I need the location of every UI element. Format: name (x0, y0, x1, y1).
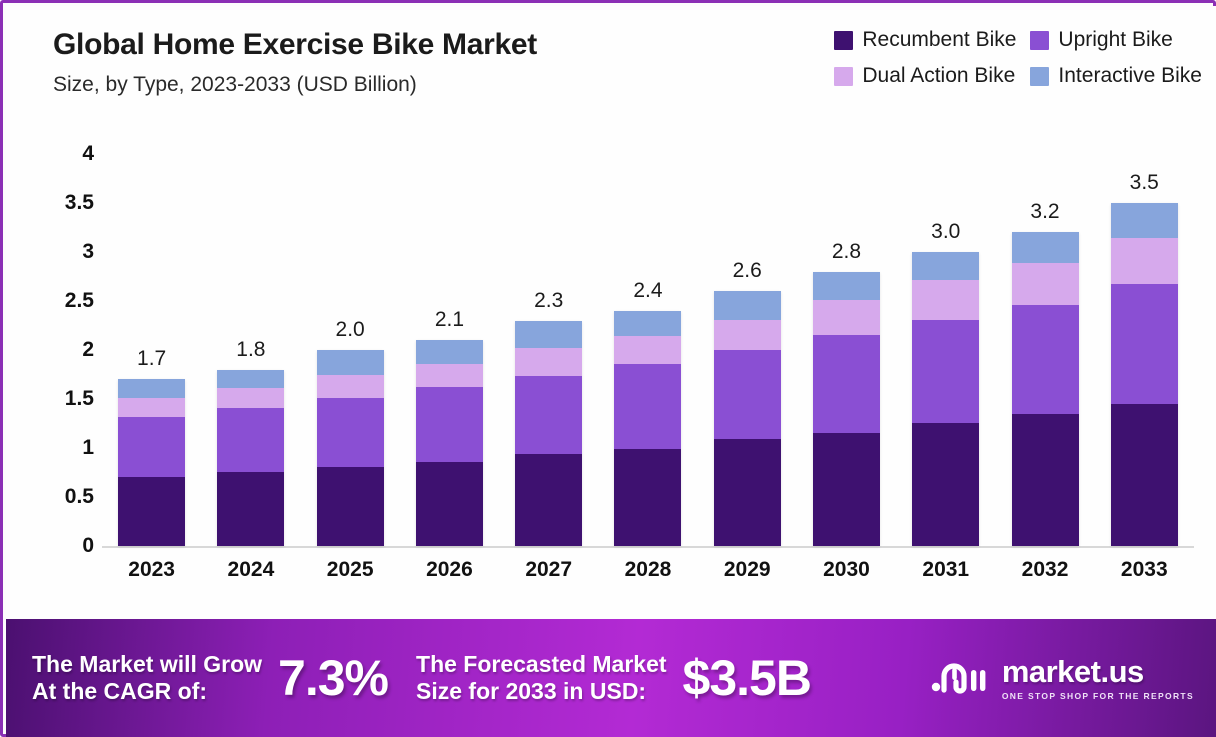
y-axis-tick-label: 2.5 (65, 289, 94, 313)
bar-stack[interactable] (217, 370, 284, 546)
bar-segment-upright-bike[interactable] (217, 408, 284, 472)
chart-legend: Recumbent BikeUpright BikeDual Action Bi… (752, 28, 1202, 88)
bar-segment-recumbent-bike[interactable] (416, 462, 483, 546)
forecast-value: $3.5B (683, 649, 811, 707)
bar-segment-upright-bike[interactable] (813, 335, 880, 433)
bar-stack[interactable] (118, 379, 185, 546)
legend-label: Recumbent Bike (862, 28, 1016, 52)
bar-segment-recumbent-bike[interactable] (515, 454, 582, 546)
legend-swatch-icon (834, 31, 853, 50)
legend-item-1[interactable]: Upright Bike (1030, 28, 1202, 52)
bar-group-2028[interactable]: 2.4 (598, 154, 697, 546)
bar-stack[interactable] (714, 291, 781, 546)
y-axis-tick-label: 2 (82, 338, 94, 362)
bar-group-2030[interactable]: 2.8 (797, 154, 896, 546)
bar-total-label: 1.7 (102, 347, 201, 371)
bar-stack[interactable] (912, 252, 979, 546)
cagr-label-line1: The Market will Grow (32, 651, 262, 677)
bar-segment-dual-action-bike[interactable] (515, 348, 582, 376)
bar-segment-interactive-bike[interactable] (614, 311, 681, 336)
bar-group-2023[interactable]: 1.7 (102, 154, 201, 546)
y-axis: 00.511.522.533.54 (42, 154, 94, 546)
legend-swatch-icon (1030, 31, 1049, 50)
bar-total-label: 2.6 (698, 259, 797, 283)
cagr-label: The Market will Grow At the CAGR of: (32, 651, 262, 704)
bar-segment-interactive-bike[interactable] (1111, 203, 1178, 238)
bar-segment-recumbent-bike[interactable] (217, 472, 284, 546)
brand-tagline: ONE STOP SHOP FOR THE REPORTS (1002, 691, 1194, 701)
brand-text: market.us ONE STOP SHOP FOR THE REPORTS (1002, 656, 1194, 701)
legend-item-0[interactable]: Recumbent Bike (834, 28, 1016, 52)
y-axis-tick-label: 3.5 (65, 191, 94, 215)
bar-total-label: 2.4 (598, 279, 697, 303)
bar-group-2033[interactable]: 3.5 (1095, 154, 1194, 546)
bar-segment-dual-action-bike[interactable] (416, 364, 483, 388)
bar-segment-dual-action-bike[interactable] (1012, 263, 1079, 305)
x-axis-tick-label: 2025 (301, 558, 400, 582)
forecast-label-line1: The Forecasted Market (416, 651, 667, 677)
page-title: Global Home Exercise Bike Market (53, 28, 537, 62)
bar-segment-interactive-bike[interactable] (1012, 232, 1079, 262)
bar-segment-dual-action-bike[interactable] (614, 336, 681, 363)
y-axis-tick-label: 3 (82, 240, 94, 264)
y-axis-tick-label: 4 (82, 142, 94, 166)
y-axis-tick-label: 0 (82, 534, 94, 558)
title-block: Global Home Exercise Bike Market Size, b… (53, 28, 537, 97)
bar-total-label: 2.0 (301, 318, 400, 342)
forecast-label-line2: Size for 2033 in USD: (416, 678, 646, 704)
legend-item-2[interactable]: Dual Action Bike (834, 64, 1016, 88)
bar-segment-recumbent-bike[interactable] (714, 439, 781, 546)
bar-segment-recumbent-bike[interactable] (614, 449, 681, 546)
bar-total-label: 1.8 (201, 338, 300, 362)
bar-segment-dual-action-bike[interactable] (317, 375, 384, 398)
bar-segment-dual-action-bike[interactable] (1111, 238, 1178, 284)
bar-segment-interactive-bike[interactable] (416, 340, 483, 364)
market-us-logo-icon (929, 656, 991, 700)
bar-segment-upright-bike[interactable] (515, 376, 582, 453)
bar-stack[interactable] (1111, 203, 1178, 546)
bar-stack[interactable] (317, 350, 384, 546)
bar-segment-upright-bike[interactable] (1111, 284, 1178, 404)
bar-group-2025[interactable]: 2.0 (301, 154, 400, 546)
bar-total-label: 3.0 (896, 220, 995, 244)
chart-card: Global Home Exercise Bike Market Size, b… (6, 6, 1216, 619)
brand-logo: market.us ONE STOP SHOP FOR THE REPORTS (929, 656, 1194, 701)
bar-group-2027[interactable]: 2.3 (499, 154, 598, 546)
bar-segment-interactive-bike[interactable] (515, 321, 582, 348)
bar-segment-interactive-bike[interactable] (912, 252, 979, 280)
forecast-label: The Forecasted Market Size for 2033 in U… (416, 651, 667, 704)
bar-segment-upright-bike[interactable] (614, 364, 681, 449)
bar-segment-recumbent-bike[interactable] (813, 433, 880, 546)
bar-segment-upright-bike[interactable] (317, 398, 384, 467)
x-axis-tick-label: 2031 (896, 558, 995, 582)
legend-label: Interactive Bike (1058, 64, 1202, 88)
chart-header: Global Home Exercise Bike Market Size, b… (6, 6, 1216, 126)
bar-segment-dual-action-bike[interactable] (912, 280, 979, 319)
forecast-stat: The Forecasted Market Size for 2033 in U… (416, 649, 811, 707)
brand-name: market.us (1002, 656, 1194, 687)
plot-area: 00.511.522.533.54 1.71.82.02.12.32.42.62… (6, 126, 1216, 619)
legend-label: Upright Bike (1058, 28, 1172, 52)
x-axis-tick-label: 2030 (797, 558, 896, 582)
bar-stack[interactable] (1012, 232, 1079, 546)
x-axis-tick-label: 2033 (1095, 558, 1194, 582)
cagr-label-line2: At the CAGR of: (32, 678, 207, 704)
bar-segment-upright-bike[interactable] (714, 350, 781, 439)
bar-segment-upright-bike[interactable] (118, 417, 185, 478)
bar-total-label: 2.8 (797, 240, 896, 264)
bar-segment-recumbent-bike[interactable] (1111, 404, 1178, 546)
x-axis-tick-label: 2027 (499, 558, 598, 582)
bar-segment-upright-bike[interactable] (1012, 305, 1079, 414)
bar-stack[interactable] (813, 272, 880, 546)
bar-series-container: 1.71.82.02.12.32.42.62.83.03.23.5 (102, 154, 1194, 546)
legend-swatch-icon (834, 67, 853, 86)
y-axis-tick-label: 1.5 (65, 387, 94, 411)
bar-segment-dual-action-bike[interactable] (813, 300, 880, 335)
y-axis-tick-label: 1 (82, 436, 94, 460)
bar-segment-recumbent-bike[interactable] (1012, 414, 1079, 546)
x-axis: 2023202420252026202720282029203020312032… (102, 558, 1194, 582)
legend-swatch-icon (1030, 67, 1049, 86)
bar-stack[interactable] (614, 311, 681, 546)
bar-segment-recumbent-bike[interactable] (118, 477, 185, 546)
cagr-stat: The Market will Grow At the CAGR of: 7.3… (32, 649, 388, 707)
x-axis-tick-label: 2029 (698, 558, 797, 582)
bar-segment-upright-bike[interactable] (912, 320, 979, 424)
x-axis-line (102, 546, 1194, 548)
bar-segment-recumbent-bike[interactable] (912, 423, 979, 546)
bar-stack[interactable] (416, 340, 483, 546)
infographic-frame: Global Home Exercise Bike Market Size, b… (0, 0, 1216, 737)
bar-group-2031[interactable]: 3.0 (896, 154, 995, 546)
bar-segment-interactive-bike[interactable] (714, 291, 781, 319)
bar-segment-interactive-bike[interactable] (118, 379, 185, 398)
bar-group-2026[interactable]: 2.1 (400, 154, 499, 546)
bar-group-2032[interactable]: 3.2 (996, 154, 1095, 546)
bar-segment-dual-action-bike[interactable] (118, 398, 185, 417)
y-axis-tick-label: 0.5 (65, 485, 94, 509)
bar-segment-interactive-bike[interactable] (317, 350, 384, 375)
x-axis-tick-label: 2026 (400, 558, 499, 582)
bar-segment-interactive-bike[interactable] (217, 370, 284, 389)
bar-total-label: 2.1 (400, 308, 499, 332)
bar-segment-dual-action-bike[interactable] (714, 320, 781, 350)
footer-banner: The Market will Grow At the CAGR of: 7.3… (6, 619, 1216, 737)
bar-segment-dual-action-bike[interactable] (217, 388, 284, 408)
bar-group-2029[interactable]: 2.6 (698, 154, 797, 546)
bar-segment-interactive-bike[interactable] (813, 272, 880, 300)
bar-segment-upright-bike[interactable] (416, 387, 483, 461)
legend-item-3[interactable]: Interactive Bike (1030, 64, 1202, 88)
x-axis-tick-label: 2024 (201, 558, 300, 582)
legend-label: Dual Action Bike (862, 64, 1015, 88)
bar-segment-recumbent-bike[interactable] (317, 467, 384, 546)
page-subtitle: Size, by Type, 2023-2033 (USD Billion) (53, 73, 537, 97)
x-axis-tick-label: 2023 (102, 558, 201, 582)
bar-group-2024[interactable]: 1.8 (201, 154, 300, 546)
bar-total-label: 3.2 (996, 200, 1095, 224)
bar-total-label: 2.3 (499, 289, 598, 313)
x-axis-tick-label: 2032 (996, 558, 1095, 582)
bar-total-label: 3.5 (1095, 171, 1194, 195)
bar-stack[interactable] (515, 321, 582, 546)
cagr-value: 7.3% (278, 649, 388, 707)
x-axis-tick-label: 2028 (598, 558, 697, 582)
